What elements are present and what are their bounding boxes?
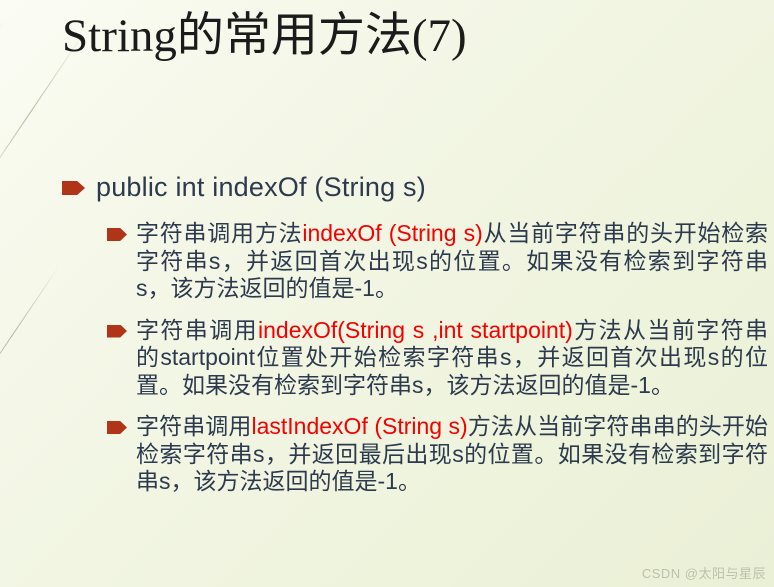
code-token-3: lastIndexOf (String s) [252,413,468,439]
code-token-2: indexOf(String s ,int startpoint) [258,317,573,343]
slide-body: public int indexOf (String s) 字符串调用方法ind… [0,170,774,496]
arrow-pentagon-bullet-icon [107,228,127,241]
csdn-watermark: CSDN @太阳与星辰 [642,563,766,582]
bullet-level2-text-1: 字符串调用方法indexOf (String s)从当前字符串的头开始检索字符串… [136,220,768,303]
slide-canvas: String的常用方法(7) public int indexOf (Strin… [0,0,774,587]
text-prefix-3: 字符串调用 [136,413,252,439]
slide-title: String的常用方法(7) [62,8,467,65]
bullet-level1: public int indexOf (String s) [0,170,774,206]
bullet-level2-text-3: 字符串调用lastIndexOf (String s)方法从当前字符串串的头开始… [136,413,768,496]
bullet-level2-text-2: 字符串调用indexOf(String s ,int startpoint)方法… [136,317,768,400]
decorative-diagonal-line-top [0,20,6,87]
bullet-level2-item-1: 字符串调用方法indexOf (String s)从当前字符串的头开始检索字符串… [0,220,774,303]
code-token-1: indexOf (String s) [302,220,482,246]
text-prefix-1: 字符串调用方法 [136,220,302,246]
text-prefix-2: 字符串调用 [136,317,258,343]
bullet-level1-text: public int indexOf (String s) [96,170,774,204]
arrow-pentagon-bullet-icon [107,421,127,434]
arrow-pentagon-bullet-icon [62,181,85,195]
bullet-level2-item-2: 字符串调用indexOf(String s ,int startpoint)方法… [0,317,774,400]
bullet-level2-item-3: 字符串调用lastIndexOf (String s)方法从当前字符串串的头开始… [0,413,774,496]
arrow-pentagon-bullet-icon [107,325,127,338]
